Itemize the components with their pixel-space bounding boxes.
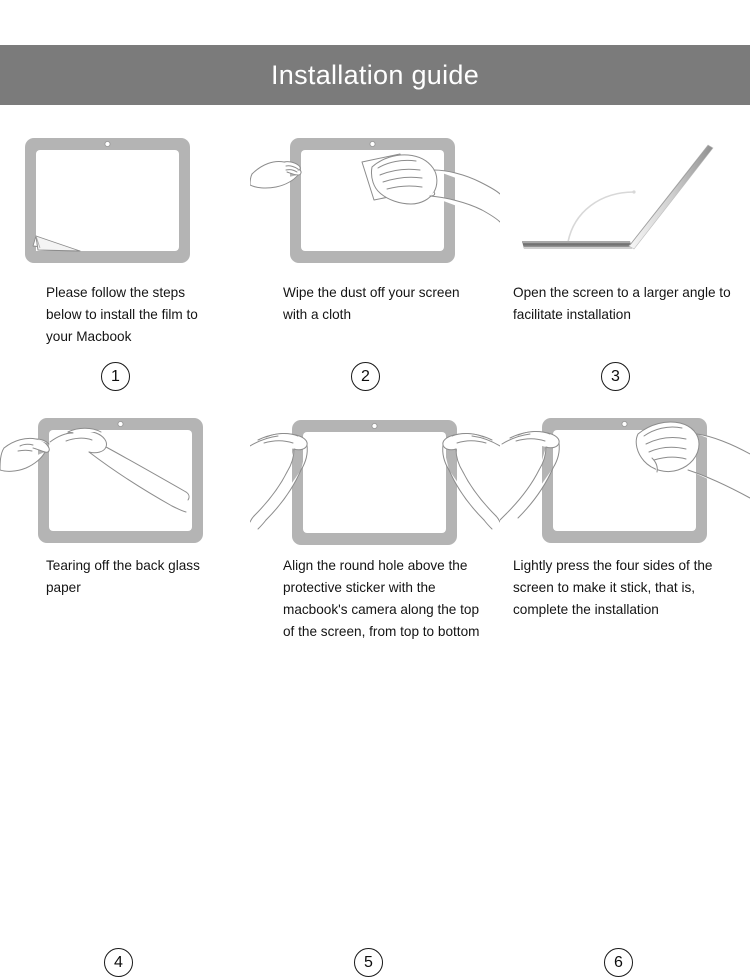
step-3-badge: 3 [601, 362, 630, 391]
page-title: Installation guide [271, 62, 479, 89]
step-1-badge: 1 [101, 362, 130, 391]
step-1-illustration [0, 130, 250, 270]
step-4-illustration [0, 410, 250, 550]
hands-wiping-screen-with-cloth-icon [250, 130, 500, 270]
installation-guide-page: Installation guide Plea [0, 0, 750, 750]
step-6-caption: Lightly press the four sides of the scre… [500, 555, 750, 621]
hands-tearing-backing-paper-icon [0, 410, 250, 550]
hand-pressing-film-onto-screen-icon [500, 410, 750, 550]
step-card-3: Open the screen to a larger angle to fac… [500, 130, 750, 410]
step-card-1: Please follow the steps below to install… [0, 130, 250, 410]
step-2-caption: Wipe the dust off your screen with a clo… [250, 282, 500, 326]
step-card-2: Wipe the dust off your screen with a clo… [250, 130, 500, 410]
steps-grid: Please follow the steps below to install… [0, 130, 750, 740]
step-4-badge: 4 [104, 948, 133, 977]
step-card-6: Lightly press the four sides of the scre… [500, 410, 750, 710]
header-bar: Installation guide [0, 45, 750, 105]
step-3-illustration [500, 130, 750, 270]
step-card-5: Align the round hole above the protectiv… [250, 410, 500, 710]
two-hands-aligning-film-on-screen-icon [250, 410, 500, 550]
step-5-illustration [250, 410, 500, 550]
step-2-badge: 2 [351, 362, 380, 391]
step-1-caption: Please follow the steps below to install… [0, 282, 250, 348]
tablet-with-peeling-film-corner-icon [0, 130, 250, 270]
step-card-4: Tearing off the back glass paper 4 [0, 410, 250, 710]
step-6-badge: 6 [604, 948, 633, 977]
step-5-caption: Align the round hole above the protectiv… [250, 555, 500, 643]
step-6-illustration [500, 410, 750, 550]
step-2-illustration [250, 130, 500, 270]
step-5-badge: 5 [354, 948, 383, 977]
step-3-caption: Open the screen to a larger angle to fac… [500, 282, 750, 326]
step-4-caption: Tearing off the back glass paper [0, 555, 250, 599]
laptop-side-view-opening-lid-icon [500, 130, 750, 270]
